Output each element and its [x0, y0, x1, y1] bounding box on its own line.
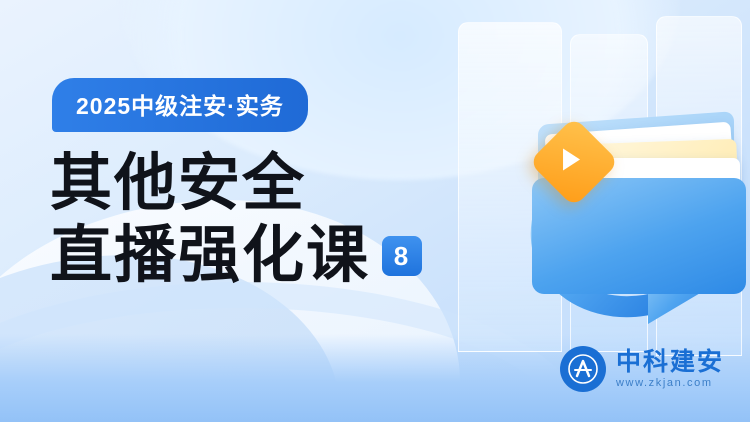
promo-poster: 2025中级注安·实务 其他安全 直播强化课 8 中科建安 www.zkjan.…	[0, 0, 750, 422]
course-tag: 2025中级注安·实务	[52, 78, 308, 132]
episode-badge: 8	[382, 236, 422, 276]
title-line-1-text: 其他安全	[50, 150, 306, 218]
title-block: 其他安全 直播强化课 8	[50, 148, 422, 292]
title-line-1: 其他安全	[50, 148, 422, 220]
brand-name: 中科建安	[616, 349, 724, 376]
brand-text: 中科建安 www.zkjan.com	[616, 349, 724, 390]
title-line-2: 直播强化课 8	[50, 220, 422, 292]
title-line-2-text: 直播强化课	[50, 220, 370, 292]
play-triangle-icon	[563, 149, 580, 171]
circle-logo-icon	[560, 346, 606, 392]
brand-logo: 中科建安 www.zkjan.com	[560, 346, 724, 392]
brand-url: www.zkjan.com	[616, 376, 724, 390]
